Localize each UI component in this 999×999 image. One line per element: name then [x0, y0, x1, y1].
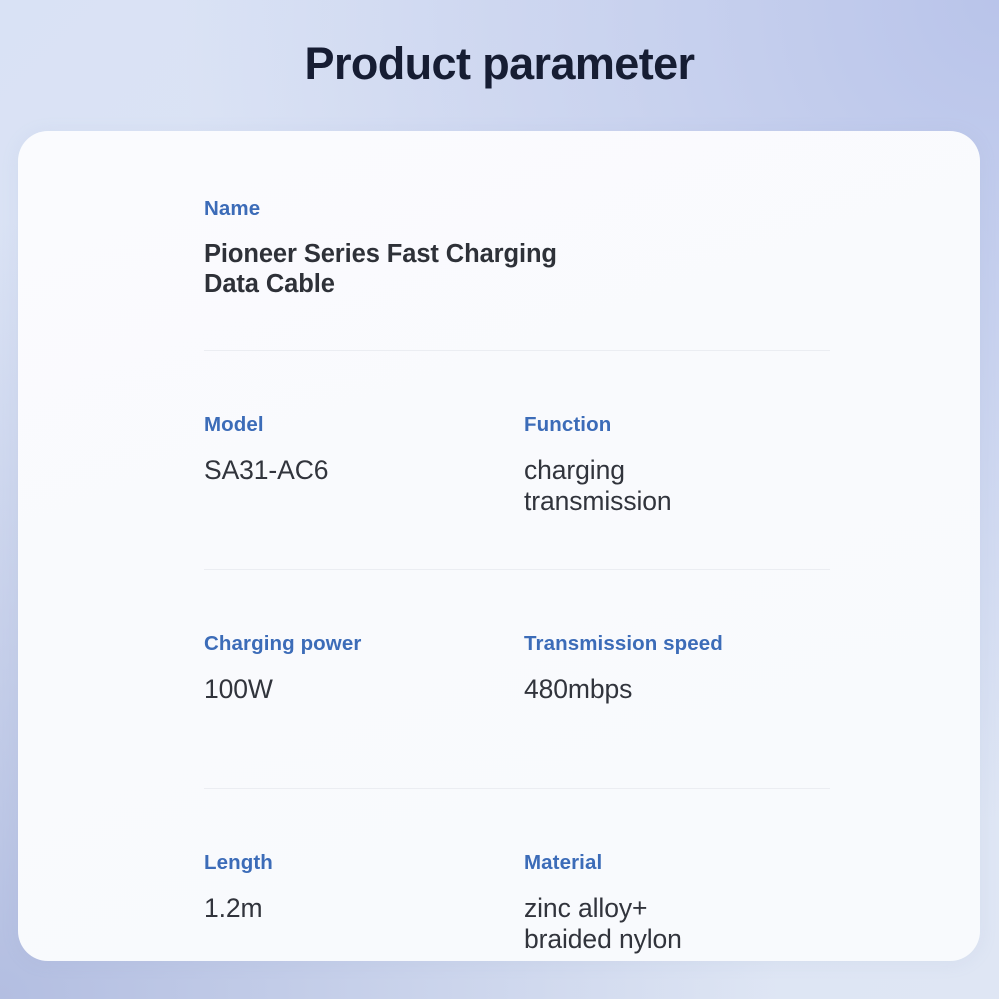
spec-label-material: Material	[524, 851, 830, 876]
spec-field-function: Function charging transmission	[506, 413, 830, 570]
spec-value-name: Pioneer Series Fast Charging Data Cable	[204, 239, 830, 299]
spec-field-transmission-speed: Transmission speed 480mbps	[506, 632, 830, 789]
spec-value-function: charging transmission	[524, 455, 830, 517]
spec-row-name: Name Pioneer Series Fast Charging Data C…	[186, 131, 830, 351]
page-title: Product parameter	[0, 38, 999, 90]
spec-value-length: 1.2m	[204, 893, 506, 924]
spec-label-model: Model	[204, 413, 506, 438]
spec-label-function: Function	[524, 413, 830, 438]
spec-field-length: Length 1.2m	[186, 851, 506, 961]
spec-field-charging-power: Charging power 100W	[186, 632, 506, 789]
spec-value-charging-power: 100W	[204, 674, 506, 705]
spec-value-model: SA31-AC6	[204, 455, 506, 486]
spec-value-transmission-speed: 480mbps	[524, 674, 830, 705]
spec-value-material: zinc alloy+ braided nylon	[524, 893, 830, 955]
spec-label-charging-power: Charging power	[204, 632, 506, 657]
spec-row-length-material: Length 1.2m Material zinc alloy+ braided…	[186, 789, 830, 961]
spec-field-material: Material zinc alloy+ braided nylon	[506, 851, 830, 961]
product-parameter-card: Name Pioneer Series Fast Charging Data C…	[18, 131, 980, 961]
spec-row-model-function: Model SA31-AC6 Function charging transmi…	[186, 351, 830, 570]
spec-label-name: Name	[204, 197, 830, 222]
spec-label-transmission-speed: Transmission speed	[524, 632, 830, 657]
spec-row-power-speed: Charging power 100W Transmission speed 4…	[186, 570, 830, 789]
spec-table: Name Pioneer Series Fast Charging Data C…	[186, 131, 830, 961]
spec-field-name: Name Pioneer Series Fast Charging Data C…	[186, 197, 830, 351]
spec-field-model: Model SA31-AC6	[186, 413, 506, 570]
spec-label-length: Length	[204, 851, 506, 876]
